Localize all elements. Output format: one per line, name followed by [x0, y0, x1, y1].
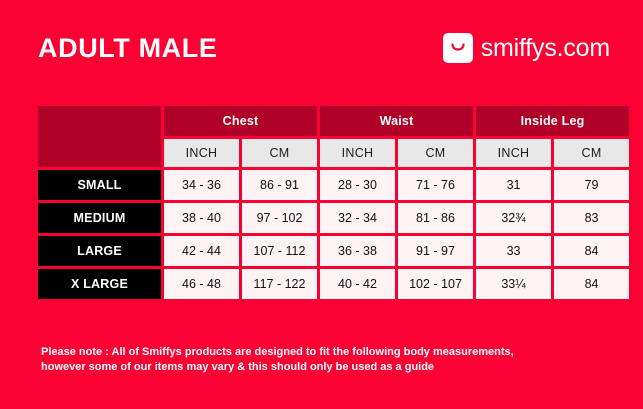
size-label-large: LARGE	[38, 236, 161, 266]
column-group-chest: Chest	[164, 106, 317, 136]
unit-header-waist-cm: CM	[398, 139, 473, 167]
size-chart-page: ADULT MALE smiffys.com Chest Wai	[0, 0, 643, 409]
cell-medium-chest-inch: 38 - 40	[164, 203, 239, 233]
size-label-x-large: X LARGE	[38, 269, 161, 299]
cell-small-waist-inch: 28 - 30	[320, 170, 395, 200]
cell-small-chest-cm: 86 - 91	[242, 170, 317, 200]
cell-large-chest-cm: 107 - 112	[242, 236, 317, 266]
page-title: ADULT MALE	[38, 35, 217, 62]
table-group-header-row: Chest Waist Inside Leg	[38, 106, 629, 136]
cell-large-waist-cm: 91 - 97	[398, 236, 473, 266]
cell-medium-waist-inch: 32 - 34	[320, 203, 395, 233]
cell-x-large-chest-cm: 117 - 122	[242, 269, 317, 299]
cell-large-waist-inch: 36 - 38	[320, 236, 395, 266]
size-label-small: SMALL	[38, 170, 161, 200]
cell-small-leg-cm: 79	[554, 170, 629, 200]
cell-large-leg-inch: 33	[476, 236, 551, 266]
cell-medium-chest-cm: 97 - 102	[242, 203, 317, 233]
cell-large-chest-inch: 42 - 44	[164, 236, 239, 266]
page-header: ADULT MALE smiffys.com	[0, 0, 643, 96]
table-row: SMALL 34 - 36 86 - 91 28 - 30 71 - 76 31…	[38, 170, 629, 200]
brand-name: smiffys.com	[481, 36, 610, 61]
cell-medium-leg-cm: 83	[554, 203, 629, 233]
cell-small-waist-cm: 71 - 76	[398, 170, 473, 200]
cell-medium-leg-inch: 32¾	[476, 203, 551, 233]
cell-small-chest-inch: 34 - 36	[164, 170, 239, 200]
cell-small-leg-inch: 31	[476, 170, 551, 200]
unit-header-chest-cm: CM	[242, 139, 317, 167]
cell-medium-waist-cm: 81 - 86	[398, 203, 473, 233]
table-row: X LARGE 46 - 48 117 - 122 40 - 42 102 - …	[38, 269, 629, 299]
cell-x-large-leg-inch: 33¼	[476, 269, 551, 299]
size-table-container: Chest Waist Inside Leg INCH CM INCH CM I…	[35, 103, 610, 302]
unit-header-waist-inch: INCH	[320, 139, 395, 167]
cell-x-large-waist-inch: 40 - 42	[320, 269, 395, 299]
cell-large-leg-cm: 84	[554, 236, 629, 266]
column-group-waist: Waist	[320, 106, 473, 136]
cell-x-large-leg-cm: 84	[554, 269, 629, 299]
footer-note: Please note : All of Smiffys products ar…	[41, 345, 613, 375]
column-group-inside-leg: Inside Leg	[476, 106, 629, 136]
table-row: LARGE 42 - 44 107 - 112 36 - 38 91 - 97 …	[38, 236, 629, 266]
cell-x-large-chest-inch: 46 - 48	[164, 269, 239, 299]
footer-note-line-1: Please note : All of Smiffys products ar…	[41, 345, 613, 360]
unit-header-leg-cm: CM	[554, 139, 629, 167]
cell-x-large-waist-cm: 102 - 107	[398, 269, 473, 299]
unit-header-chest-inch: INCH	[164, 139, 239, 167]
size-table: Chest Waist Inside Leg INCH CM INCH CM I…	[35, 103, 632, 302]
size-label-medium: MEDIUM	[38, 203, 161, 233]
table-corner-cell	[38, 106, 161, 167]
unit-header-leg-inch: INCH	[476, 139, 551, 167]
footer-note-line-2: however some of our items may vary & thi…	[41, 360, 613, 375]
brand-logo: smiffys.com	[443, 33, 610, 63]
smile-logo-icon	[443, 33, 473, 63]
table-row: MEDIUM 38 - 40 97 - 102 32 - 34 81 - 86 …	[38, 203, 629, 233]
